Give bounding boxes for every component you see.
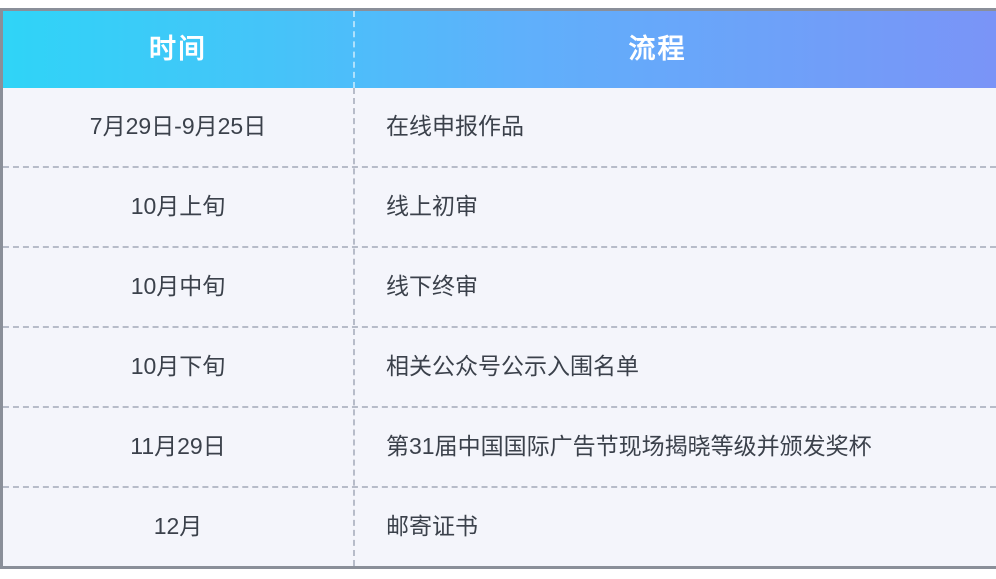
table-cell-flow: 邮寄证书 (353, 488, 996, 566)
header-column-divider (353, 11, 355, 88)
table-cell-flow: 相关公众号公示入围名单 (353, 328, 996, 406)
table-cell-time: 11月29日 (3, 408, 353, 486)
cell-time-value: 10月上旬 (131, 193, 226, 221)
table-body: 7月29日-9月25日 在线申报作品 10月上旬 线上初审 10月中旬 线下终审 (3, 88, 996, 566)
cell-time-value: 12月 (154, 513, 203, 541)
table-row: 10月下旬 相关公众号公示入围名单 (3, 326, 996, 406)
table-cell-flow: 线上初审 (353, 168, 996, 246)
table-header-row: 时间 流程 (3, 11, 996, 88)
cell-time-value: 10月中旬 (131, 273, 226, 301)
cell-time-value: 7月29日-9月25日 (90, 113, 266, 141)
cell-flow-value: 在线申报作品 (386, 113, 524, 141)
column-header-time-label: 时间 (149, 36, 207, 63)
cell-flow-value: 相关公众号公示入围名单 (386, 353, 639, 381)
table-header-cell-time: 时间 (3, 11, 353, 88)
table-row: 10月上旬 线上初审 (3, 166, 996, 246)
table-cell-time: 10月上旬 (3, 168, 353, 246)
table-cell-flow: 线下终审 (353, 248, 996, 326)
column-header-flow-label: 流程 (629, 36, 687, 63)
table-row: 11月29日 第31届中国国际广告节现场揭晓等级并颁发奖杯 (3, 406, 996, 486)
table-cell-time: 10月下旬 (3, 328, 353, 406)
table-cell-time: 10月中旬 (3, 248, 353, 326)
schedule-table: 时间 流程 7月29日-9月25日 在线申报作品 10月上旬 线上初审 (0, 8, 996, 569)
table-row: 7月29日-9月25日 在线申报作品 (3, 88, 996, 166)
table-cell-time: 7月29日-9月25日 (3, 88, 353, 166)
table-cell-flow: 第31届中国国际广告节现场揭晓等级并颁发奖杯 (353, 408, 996, 486)
cell-flow-value: 邮寄证书 (386, 513, 478, 541)
table-cell-time: 12月 (3, 488, 353, 566)
cell-flow-value: 第31届中国国际广告节现场揭晓等级并颁发奖杯 (386, 433, 872, 461)
table-header-cell-flow: 流程 (353, 11, 996, 88)
cell-time-value: 10月下旬 (131, 353, 226, 381)
table-row: 10月中旬 线下终审 (3, 246, 996, 326)
table-row: 12月 邮寄证书 (3, 486, 996, 566)
cell-time-value: 11月29日 (130, 433, 225, 461)
cell-flow-value: 线上初审 (386, 193, 478, 221)
cell-flow-value: 线下终审 (386, 273, 478, 301)
table-cell-flow: 在线申报作品 (353, 88, 996, 166)
